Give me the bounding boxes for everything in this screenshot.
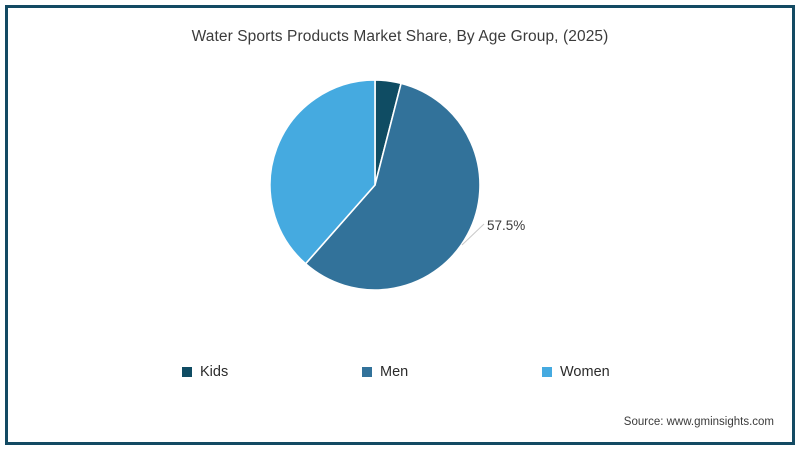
legend-swatch-men: [362, 367, 372, 377]
chart-figure: Water Sports Products Market Share, By A…: [0, 0, 800, 450]
legend-item-women[interactable]: Women: [542, 362, 610, 382]
legend: Kids Men Women: [0, 360, 800, 388]
legend-item-kids[interactable]: Kids: [182, 362, 228, 382]
legend-label-kids: Kids: [200, 365, 228, 380]
legend-item-men[interactable]: Men: [362, 362, 408, 382]
legend-label-men: Men: [380, 365, 408, 380]
source-note: Source: www.gminsights.com: [624, 416, 774, 428]
data-label-men: 57.5%: [487, 218, 525, 233]
legend-swatch-women: [542, 367, 552, 377]
pie-slice-group: [270, 80, 480, 290]
legend-swatch-kids: [182, 367, 192, 377]
legend-label-women: Women: [560, 365, 610, 380]
